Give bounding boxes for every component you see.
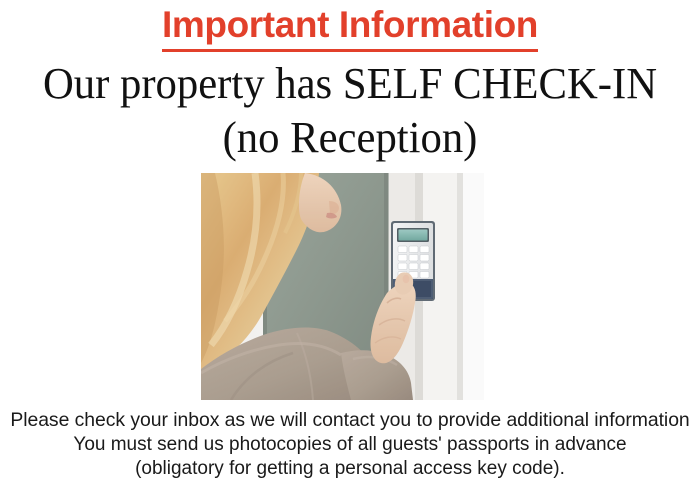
page-title: Important Information	[0, 2, 700, 52]
footer-line-2: You must send us photocopies of all gues…	[0, 433, 700, 458]
subtitle-line-1: Our property has SELF CHECK-IN	[11, 57, 690, 111]
page-title-text: Important Information	[162, 2, 538, 52]
keypad-photo-illustration	[201, 173, 484, 400]
notice-page: Important Information Our property has S…	[0, 0, 700, 500]
subtitle-line-2: (no Reception)	[11, 111, 690, 165]
footer-line-3: (obligatory for getting a personal acces…	[0, 457, 700, 482]
subtitle-block: Our property has SELF CHECK-IN (no Recep…	[0, 57, 700, 165]
keypad-photo	[201, 173, 484, 400]
footer-line-1: Please check your inbox as we will conta…	[0, 408, 700, 433]
footer-note: Please check your inbox as we will conta…	[0, 408, 700, 482]
